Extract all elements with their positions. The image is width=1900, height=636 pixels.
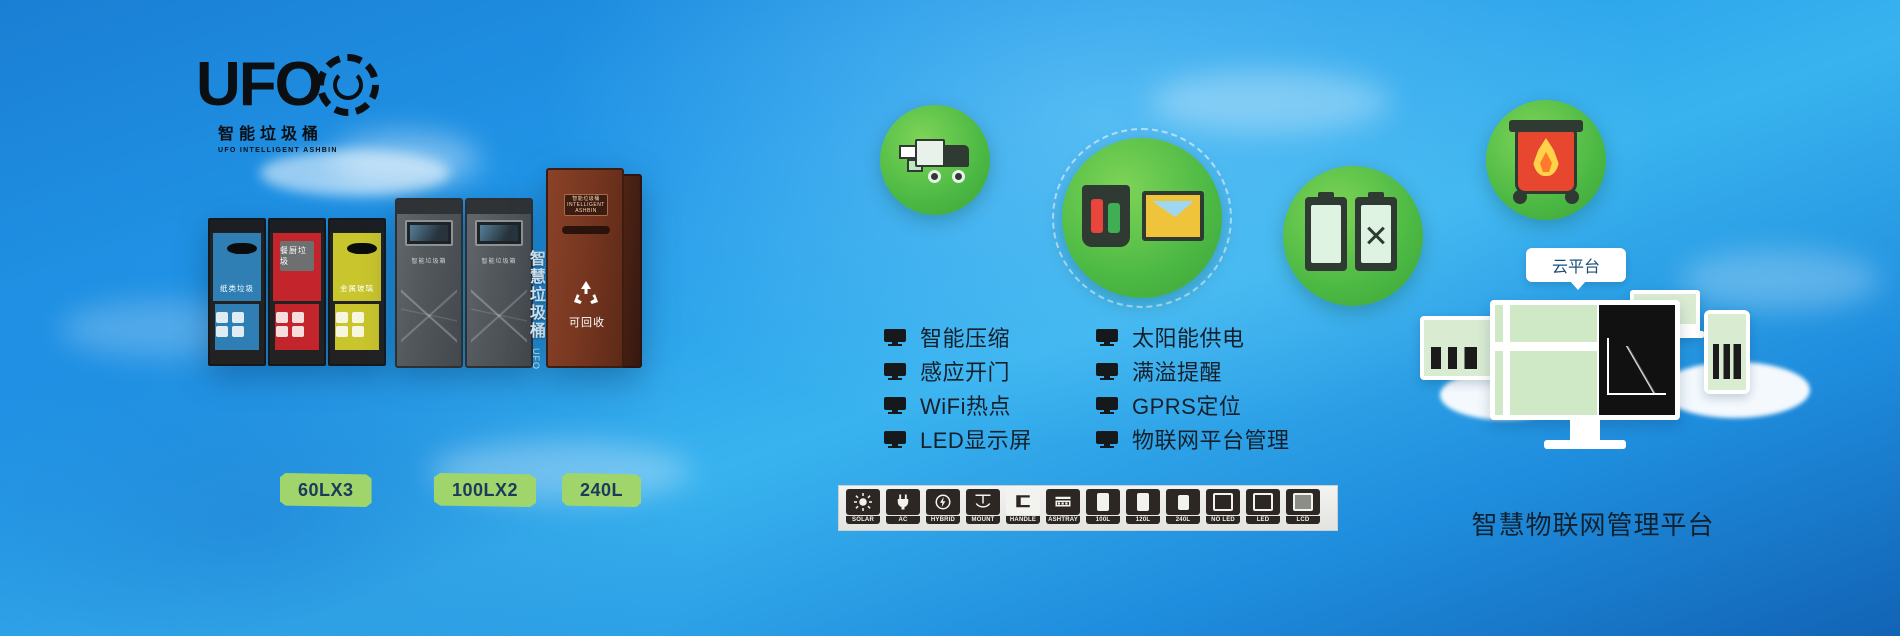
led-icon [1246, 489, 1280, 515]
spec-ac: AC [885, 489, 921, 527]
map-view [1495, 305, 1597, 415]
platform-caption: 智慧物联网管理平台 [1433, 505, 1753, 542]
sorting-bin-product: 纸类垃圾 餐厨垃圾 金属玻璃 [208, 218, 386, 366]
bin-vertical-subtext: UFO [521, 348, 541, 370]
spec-icon-strip: SOLAR AC HYBRID MOUNT HANDLE [838, 485, 1338, 531]
feature-label: GPRS定位 [1132, 389, 1241, 421]
iot-platform-illustration [1420, 290, 1750, 470]
handle-icon [1006, 489, 1040, 515]
bin-label: 智能垃圾箱 [397, 256, 461, 265]
bin-display-screen: 智能垃圾桶 INTELLIGENT ASHBIN [564, 194, 608, 216]
bin-label: 纸类垃圾 [213, 283, 261, 294]
bin-window [405, 220, 453, 246]
plug-icon [886, 489, 920, 515]
spec-label: HYBRID [926, 516, 960, 524]
spec-label: LCD [1286, 516, 1320, 524]
feature-circle-compaction [880, 105, 990, 215]
chart-panel [1597, 305, 1675, 415]
feature-label: 感应开门 [920, 355, 1010, 387]
feature-item: 智能压缩 [884, 320, 1032, 354]
no-led-icon [1206, 489, 1240, 515]
feature-label: WiFi热点 [920, 389, 1011, 421]
spec-label: ASHTRAY [1046, 516, 1080, 524]
spec-label: 100L [1086, 516, 1120, 524]
monitor-bullet-icon [1096, 431, 1118, 448]
spec-label: SOLAR [846, 516, 880, 524]
bin-label: 智能垃圾箱 [467, 256, 531, 265]
spec-lcd: LCD [1285, 489, 1321, 527]
bin-hood [397, 200, 461, 214]
bin-100l-icon [1086, 489, 1120, 515]
feature-circle-battery [1283, 166, 1423, 306]
fire-bin-icon [1507, 120, 1585, 200]
bin-screen-text: 智能垃圾桶 INTELLIGENT ASHBIN [565, 196, 607, 214]
bin-120l-icon [1126, 489, 1160, 515]
spec-240l: 240L [1165, 489, 1201, 527]
phone-device [1704, 310, 1750, 394]
spec-ashtray: ASHTRAY [1045, 489, 1081, 527]
feature-list-right: 太阳能供电 满溢提醒 GPRS定位 物联网平台管理 [1096, 320, 1290, 456]
bin-graphic [471, 270, 527, 360]
monitor-bullet-icon [1096, 329, 1118, 346]
monitor-bullet-icon [1096, 363, 1118, 380]
feature-item: 太阳能供电 [1096, 320, 1290, 354]
spec-solar: SOLAR [845, 489, 881, 527]
bin-waste-icons [276, 308, 318, 358]
monitor-bullet-icon [884, 329, 906, 346]
spec-label: AC [886, 516, 920, 524]
lcd-icon [1286, 489, 1320, 515]
bin-hood [467, 200, 531, 214]
monitor-bullet-icon [884, 363, 906, 380]
capacity-tag-60lx3: 60LX3 [280, 473, 372, 507]
brand-logo: UFO 智能垃圾桶 UFO INTELLIGENT ASHBIN [196, 52, 381, 152]
monitor-stand [1570, 420, 1600, 442]
bin-label: 餐厨垃圾 [280, 245, 314, 267]
bin-recycle-label: 可回收 [548, 314, 626, 330]
spec-120l: 120L [1125, 489, 1161, 527]
grey-bin-left: 智能垃圾箱 [395, 198, 463, 368]
bin-compartment-paper: 纸类垃圾 [208, 218, 266, 366]
spec-mount: MOUNT [965, 489, 1001, 527]
spec-label: HANDLE [1006, 516, 1040, 524]
mount-icon [966, 489, 1000, 515]
monitor-device [1490, 300, 1680, 420]
bin-graphic [401, 270, 457, 360]
spec-label: MOUNT [966, 516, 1000, 524]
monitor-bullet-icon [884, 431, 906, 448]
spec-label: NO LED [1206, 516, 1240, 524]
spec-hybrid: HYBRID [925, 489, 961, 527]
cloud-platform-tag: 云平台 [1526, 248, 1626, 282]
brown-bin-product: 智能垃圾桶 INTELLIGENT ASHBIN 可回收 [546, 168, 642, 368]
bin-panel: 餐厨垃圾 [273, 233, 321, 301]
spec-100l: 100L [1085, 489, 1121, 527]
dashboard-screen [1495, 305, 1675, 415]
feature-circle-fire-alarm [1486, 100, 1606, 220]
bin-slot-icon [562, 226, 610, 234]
truck-compaction-icon [899, 135, 971, 185]
logo-cn-name: 智能垃圾桶 [196, 120, 381, 144]
recycle-icon [570, 278, 602, 310]
monitor-bullet-icon [1096, 397, 1118, 414]
feature-label: 太阳能供电 [1132, 321, 1245, 353]
bin-plate: 餐厨垃圾 [280, 241, 314, 271]
bin-label: 金属玻璃 [333, 283, 381, 294]
monitor-bullet-icon [884, 397, 906, 414]
feature-item: GPRS定位 [1096, 388, 1290, 422]
feature-item: 物联网平台管理 [1096, 422, 1290, 456]
bin-hood [330, 220, 384, 232]
spec-label: 120L [1126, 516, 1160, 524]
banner-canvas: UFO 智能垃圾桶 UFO INTELLIGENT ASHBIN 纸类垃圾 餐厨… [0, 0, 1900, 636]
feature-item: LED显示屏 [884, 422, 1032, 456]
bin-hood [270, 220, 324, 232]
spec-no-led: NO LED [1205, 489, 1241, 527]
ufo-ring-icon [317, 54, 379, 116]
bin-waste-icons [216, 308, 258, 358]
bin-side-panel [622, 174, 642, 368]
spec-handle: HANDLE [1005, 489, 1041, 527]
bin-slot-icon [227, 243, 257, 254]
bin-hood [210, 220, 264, 232]
bin-vertical-text: 智慧垃圾桶 [525, 250, 547, 340]
feature-label: LED显示屏 [920, 423, 1032, 455]
bin-panel: 纸类垃圾 [213, 233, 261, 301]
logo-mark-row: UFO [196, 52, 381, 118]
sun-icon [846, 489, 880, 515]
logo-en-name: UFO INTELLIGENT ASHBIN [196, 147, 381, 154]
monitor-base [1544, 440, 1626, 449]
double-bin-product: 智能垃圾箱 智能垃圾箱 智慧垃圾桶 UFO [395, 198, 535, 368]
feature-circle-sorting [1062, 138, 1222, 298]
bin-slot-icon [347, 243, 377, 254]
bin-window [475, 220, 523, 246]
bin-to-container-icon [1080, 181, 1204, 255]
spec-label: LED [1246, 516, 1280, 524]
cloud-decoration [1150, 70, 1390, 134]
feature-item: WiFi热点 [884, 388, 1032, 422]
bin-compartment-kitchen: 餐厨垃圾 [268, 218, 326, 366]
capacity-tag-100lx2: 100LX2 [434, 473, 536, 507]
capacity-tag-240l: 240L [562, 473, 641, 507]
bin-panel: 金属玻璃 [333, 233, 381, 301]
tablet-device [1420, 316, 1498, 380]
bin-waste-icons [336, 308, 378, 358]
bin-240l-icon [1166, 489, 1200, 515]
hybrid-power-icon [926, 489, 960, 515]
spec-label: 240L [1166, 516, 1200, 524]
spec-led: LED [1245, 489, 1281, 527]
feature-item: 满溢提醒 [1096, 354, 1290, 388]
ashtray-icon [1046, 489, 1080, 515]
feature-label: 智能压缩 [920, 321, 1010, 353]
battery-pair-icon [1305, 197, 1401, 275]
logo-wordmark: UFO [196, 54, 321, 116]
bin-body: 智能垃圾桶 INTELLIGENT ASHBIN 可回收 [546, 168, 624, 368]
bin-compartment-metal-glass: 金属玻璃 [328, 218, 386, 366]
feature-item: 感应开门 [884, 354, 1032, 388]
feature-list-left: 智能压缩 感应开门 WiFi热点 LED显示屏 [884, 320, 1032, 456]
feature-label: 满溢提醒 [1132, 355, 1222, 387]
feature-label: 物联网平台管理 [1132, 423, 1290, 455]
